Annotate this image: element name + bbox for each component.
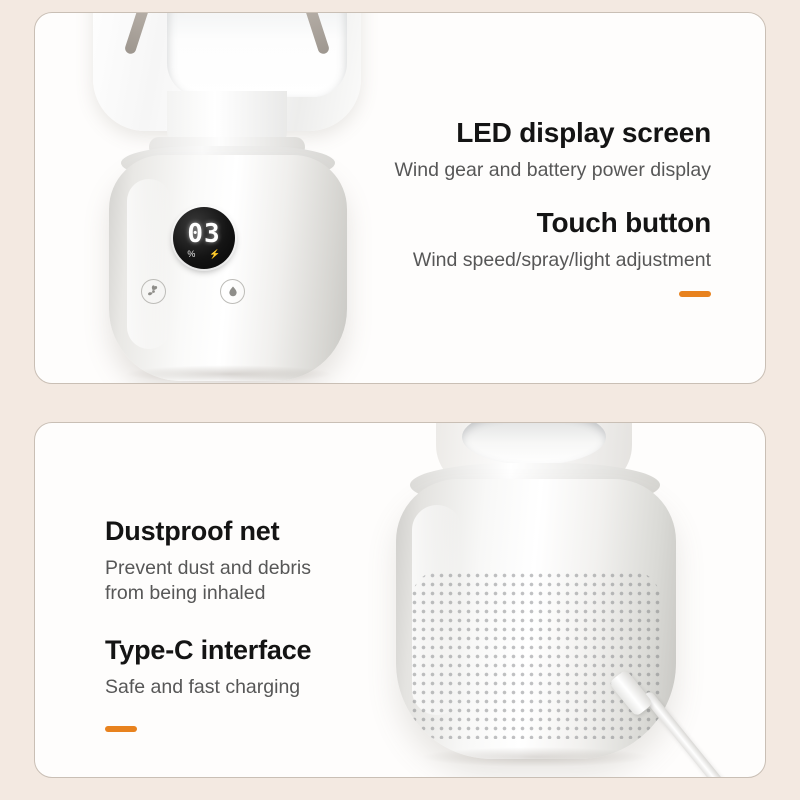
led-value: 03 [187,221,220,247]
dustproof-mesh [410,571,662,739]
led-status-icons: % ⚡ [187,249,220,259]
feature-title-led-display: LED display screen [394,116,711,150]
accent-dash-top [679,291,711,297]
top-feature-text-block: LED display screen Wind gear and battery… [394,116,711,297]
feature-title-touch-button: Touch button [394,206,711,240]
fan-bottom-shadow [420,747,650,767]
feature-subtitle-touch-button: Wind speed/spray/light adjustment [394,247,711,273]
text-gap [105,606,335,634]
feature-title-type-c: Type-C interface [105,634,335,667]
dustproof-panel: Dustproof net Prevent dust and debris fr… [34,422,766,778]
spray-mist-touch-button[interactable] [220,279,245,304]
led-display: 03 % ⚡ [173,207,235,269]
product-image-fan-bottom [370,422,700,778]
feature-subtitle-dustproof-net: Prevent dust and debris from being inhal… [105,556,335,606]
water-drop-icon [226,285,240,299]
feature-subtitle-type-c: Safe and fast charging [105,675,335,700]
accent-dash-bottom [105,726,137,732]
feature-subtitle-led-display: Wind gear and battery power display [394,157,711,183]
bottom-feature-text-block: Dustproof net Prevent dust and debris fr… [105,515,335,732]
product-image-fan-top: 03 % ⚡ [63,12,393,384]
text-gap [394,183,711,206]
percent-icon: % [187,249,195,259]
usb-c-cable [642,690,731,778]
feature-title-dustproof-net: Dustproof net [105,515,335,548]
fan-base-shadow [125,365,333,383]
vent-slot-left-icon [124,12,154,55]
fan-base-body [109,155,347,381]
battery-bolt-icon: ⚡ [209,249,220,259]
led-display-panel: 03 % ⚡ LED display screen Wind gear and … [34,12,766,384]
fan-speed-touch-button[interactable] [141,279,166,304]
fan-bottom-body [396,479,676,759]
fan-icon [146,284,161,299]
